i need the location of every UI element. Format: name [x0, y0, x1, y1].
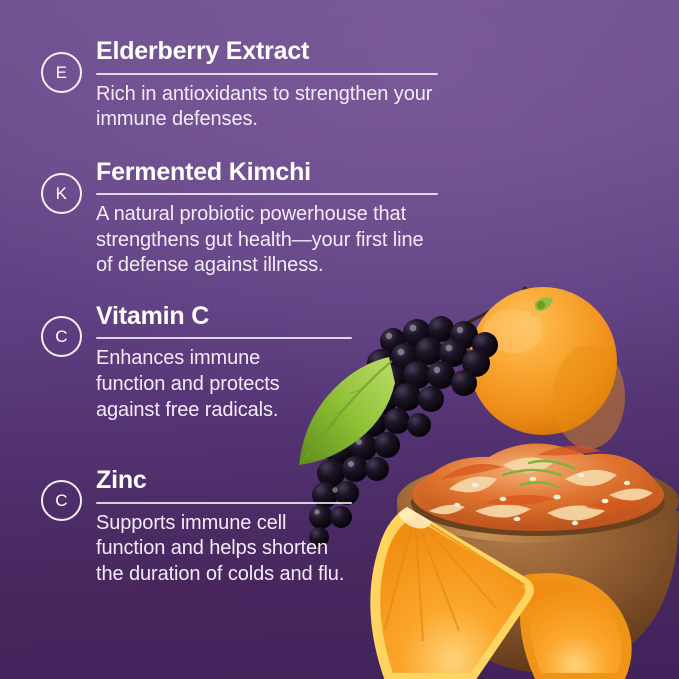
badge-icon-k: K [41, 173, 82, 214]
benefit-heading: Vitamin C [96, 303, 550, 331]
badge-icon-e: E [41, 52, 82, 93]
benefit-description: Rich in antioxidants to strengthen your … [96, 82, 550, 133]
benefit-item-fermented-kimchi: K Fermented Kimchi A natural probiotic p… [0, 159, 560, 279]
ingredient-benefits-poster: E Elderberry Extract Rich in antioxidant… [0, 0, 679, 679]
benefit-heading: Zinc [96, 467, 550, 495]
benefit-heading: Elderberry Extract [96, 38, 550, 66]
benefit-heading: Fermented Kimchi [96, 159, 550, 187]
heading-underline [96, 73, 438, 75]
benefit-item-zinc: C Zinc Supports immune cell function and… [0, 467, 560, 587]
benefit-description: Enhances immune function and protects ag… [96, 346, 366, 423]
heading-underline [96, 502, 352, 504]
heading-underline [96, 337, 352, 339]
benefit-body: Fermented Kimchi A natural probiotic pow… [96, 159, 560, 279]
benefit-description: Supports immune cell function and helps … [96, 511, 366, 588]
badge-icon-c-vitamin: C [41, 316, 82, 357]
heading-underline [96, 193, 438, 195]
benefit-item-elderberry-extract: E Elderberry Extract Rich in antioxidant… [0, 38, 560, 133]
benefit-body: Elderberry Extract Rich in antioxidants … [96, 38, 560, 133]
orange-wedge-back [520, 573, 632, 679]
benefit-description: A natural probiotic powerhouse that stre… [96, 202, 550, 279]
benefit-body: Vitamin C Enhances immune function and p… [96, 303, 560, 423]
benefit-body: Zinc Supports immune cell function and h… [96, 467, 560, 587]
badge-icon-c-zinc: C [41, 480, 82, 521]
benefits-list: E Elderberry Extract Rich in antioxidant… [0, 0, 560, 588]
benefit-item-vitamin-c: C Vitamin C Enhances immune function and… [0, 303, 560, 423]
